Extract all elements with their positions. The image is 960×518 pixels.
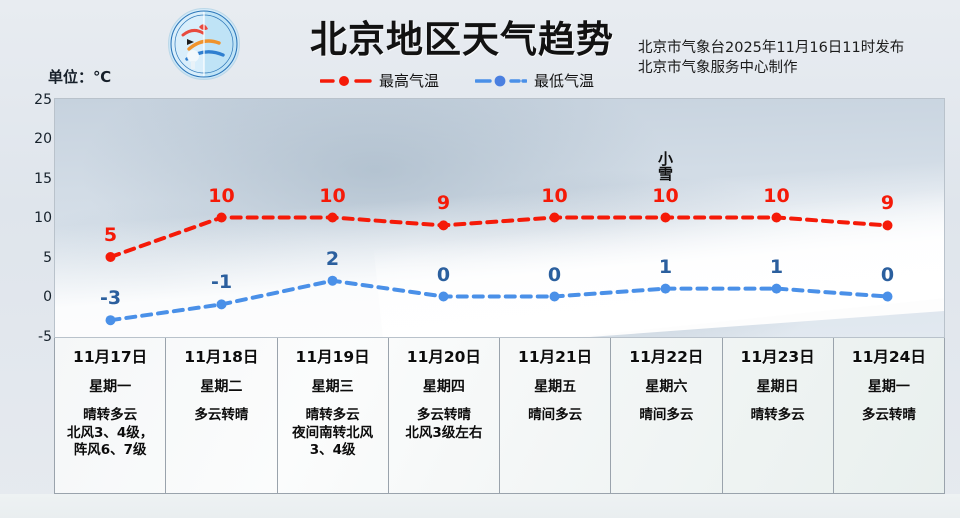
series-line — [111, 218, 888, 258]
weather-annotation: 小雪 — [657, 152, 674, 182]
series-point — [106, 315, 116, 325]
series-point — [439, 292, 449, 302]
forecast-condition: 多云转晴北风3级左右 — [392, 407, 496, 442]
low-temp-label: 2 — [326, 248, 339, 270]
chart-legend: 最高气温 最低气温 — [320, 70, 594, 91]
chart-plot-area: 5101091010109-3-1200110小雪 — [54, 98, 945, 338]
legend-label-low: 最低气温 — [534, 70, 594, 91]
forecast-weekday: 星期一 — [837, 376, 941, 396]
y-axis-tick: 20 — [12, 131, 52, 147]
high-temp-label: 10 — [208, 185, 234, 207]
footer-strip — [0, 494, 960, 518]
high-temp-label: 9 — [881, 192, 894, 214]
forecast-weekday: 星期二 — [169, 376, 273, 396]
series-point — [217, 299, 227, 309]
weather-trend-page: 北京地区天气趋势 北京市气象台2025年11月16日11时发布 北京市气象服务中… — [0, 0, 960, 518]
forecast-day-column[interactable]: 11月18日星期二多云转晴 — [166, 338, 277, 493]
legend-item-low-temperature: 最低气温 — [475, 70, 594, 91]
forecast-date: 11月21日 — [503, 345, 607, 367]
forecast-weekday: 星期四 — [392, 376, 496, 396]
legend-label-high: 最高气温 — [379, 70, 439, 91]
forecast-day-column[interactable]: 11月20日星期四多云转晴北风3级左右 — [389, 338, 500, 493]
high-temp-label: 5 — [104, 224, 117, 246]
forecast-condition: 多云转晴 — [837, 407, 941, 425]
series-point — [772, 284, 782, 294]
forecast-day-column[interactable]: 11月19日星期三晴转多云夜间南转北风3、4级 — [278, 338, 389, 493]
issuer-line-1: 北京市气象台2025年11月16日11时发布 — [638, 38, 904, 58]
y-axis-tick: 15 — [12, 171, 52, 187]
series-point — [106, 252, 116, 262]
high-temp-label: 10 — [541, 185, 567, 207]
legend-item-high-temperature: 最高气温 — [320, 70, 439, 91]
forecast-date: 11月24日 — [837, 345, 941, 367]
page-title: 北京地区天气趋势 — [310, 9, 614, 63]
low-temp-label: 1 — [770, 256, 783, 278]
unit-label: 单位：℃ — [48, 66, 111, 87]
series-point — [883, 292, 893, 302]
series-point — [217, 213, 227, 223]
temperature-series-lines — [55, 99, 943, 336]
forecast-weekday: 星期三 — [281, 376, 385, 396]
forecast-day-column[interactable]: 11月22日星期六晴间多云 — [611, 338, 722, 493]
y-axis: 2520151050-5 — [8, 90, 52, 346]
forecast-condition: 晴转多云北风3、4级，阵风6、7级 — [58, 407, 162, 460]
series-point — [550, 213, 560, 223]
series-point — [661, 213, 671, 223]
forecast-date: 11月22日 — [614, 345, 718, 367]
series-point — [772, 213, 782, 223]
issuer-info: 北京市气象台2025年11月16日11时发布 北京市气象服务中心制作 — [638, 38, 904, 78]
low-temp-label: 0 — [437, 264, 450, 286]
forecast-table: 11月17日星期一晴转多云北风3、4级，阵风6、7级11月18日星期二多云转晴1… — [54, 338, 945, 494]
beijing-meteorological-service-logo-icon — [168, 8, 240, 80]
y-axis-tick: 5 — [12, 250, 52, 266]
high-temp-label: 9 — [437, 192, 450, 214]
forecast-condition: 晴转多云 — [726, 407, 830, 425]
low-temp-label: -3 — [100, 287, 121, 309]
low-temp-label: 1 — [659, 256, 672, 278]
forecast-weekday: 星期五 — [503, 376, 607, 396]
forecast-condition: 晴间多云 — [503, 407, 607, 425]
series-point — [550, 292, 560, 302]
forecast-day-column[interactable]: 11月21日星期五晴间多云 — [500, 338, 611, 493]
issuer-line-2: 北京市气象服务中心制作 — [638, 58, 904, 78]
forecast-day-column[interactable]: 11月23日星期日晴转多云 — [723, 338, 834, 493]
low-temp-label: -1 — [211, 271, 232, 293]
forecast-date: 11月18日 — [169, 345, 273, 367]
legend-marker-low-icon — [475, 74, 527, 88]
forecast-day-column[interactable]: 11月17日星期一晴转多云北风3、4级，阵风6、7级 — [55, 338, 166, 493]
forecast-date: 11月23日 — [726, 345, 830, 367]
legend-marker-high-icon — [320, 74, 372, 88]
forecast-date: 11月19日 — [281, 345, 385, 367]
series-point — [439, 220, 449, 230]
forecast-weekday: 星期六 — [614, 376, 718, 396]
y-axis-tick: 25 — [12, 92, 52, 108]
header: 北京地区天气趋势 北京市气象台2025年11月16日11时发布 北京市气象服务中… — [0, 0, 960, 92]
forecast-condition: 晴间多云 — [614, 407, 718, 425]
high-temp-label: 10 — [652, 185, 678, 207]
low-temp-label: 0 — [881, 264, 894, 286]
forecast-weekday: 星期一 — [58, 376, 162, 396]
y-axis-tick: -5 — [12, 329, 52, 345]
series-point — [883, 220, 893, 230]
high-temp-label: 10 — [319, 185, 345, 207]
series-point — [328, 213, 338, 223]
y-axis-tick: 0 — [12, 289, 52, 305]
forecast-date: 11月17日 — [58, 345, 162, 367]
forecast-condition: 多云转晴 — [169, 407, 273, 425]
forecast-condition: 晴转多云夜间南转北风3、4级 — [281, 407, 385, 460]
low-temp-label: 0 — [548, 264, 561, 286]
forecast-date: 11月20日 — [392, 345, 496, 367]
forecast-weekday: 星期日 — [726, 376, 830, 396]
series-point — [328, 276, 338, 286]
series-point — [661, 284, 671, 294]
high-temp-label: 10 — [763, 185, 789, 207]
y-axis-tick: 10 — [12, 210, 52, 226]
forecast-day-column[interactable]: 11月24日星期一多云转晴 — [834, 338, 944, 493]
